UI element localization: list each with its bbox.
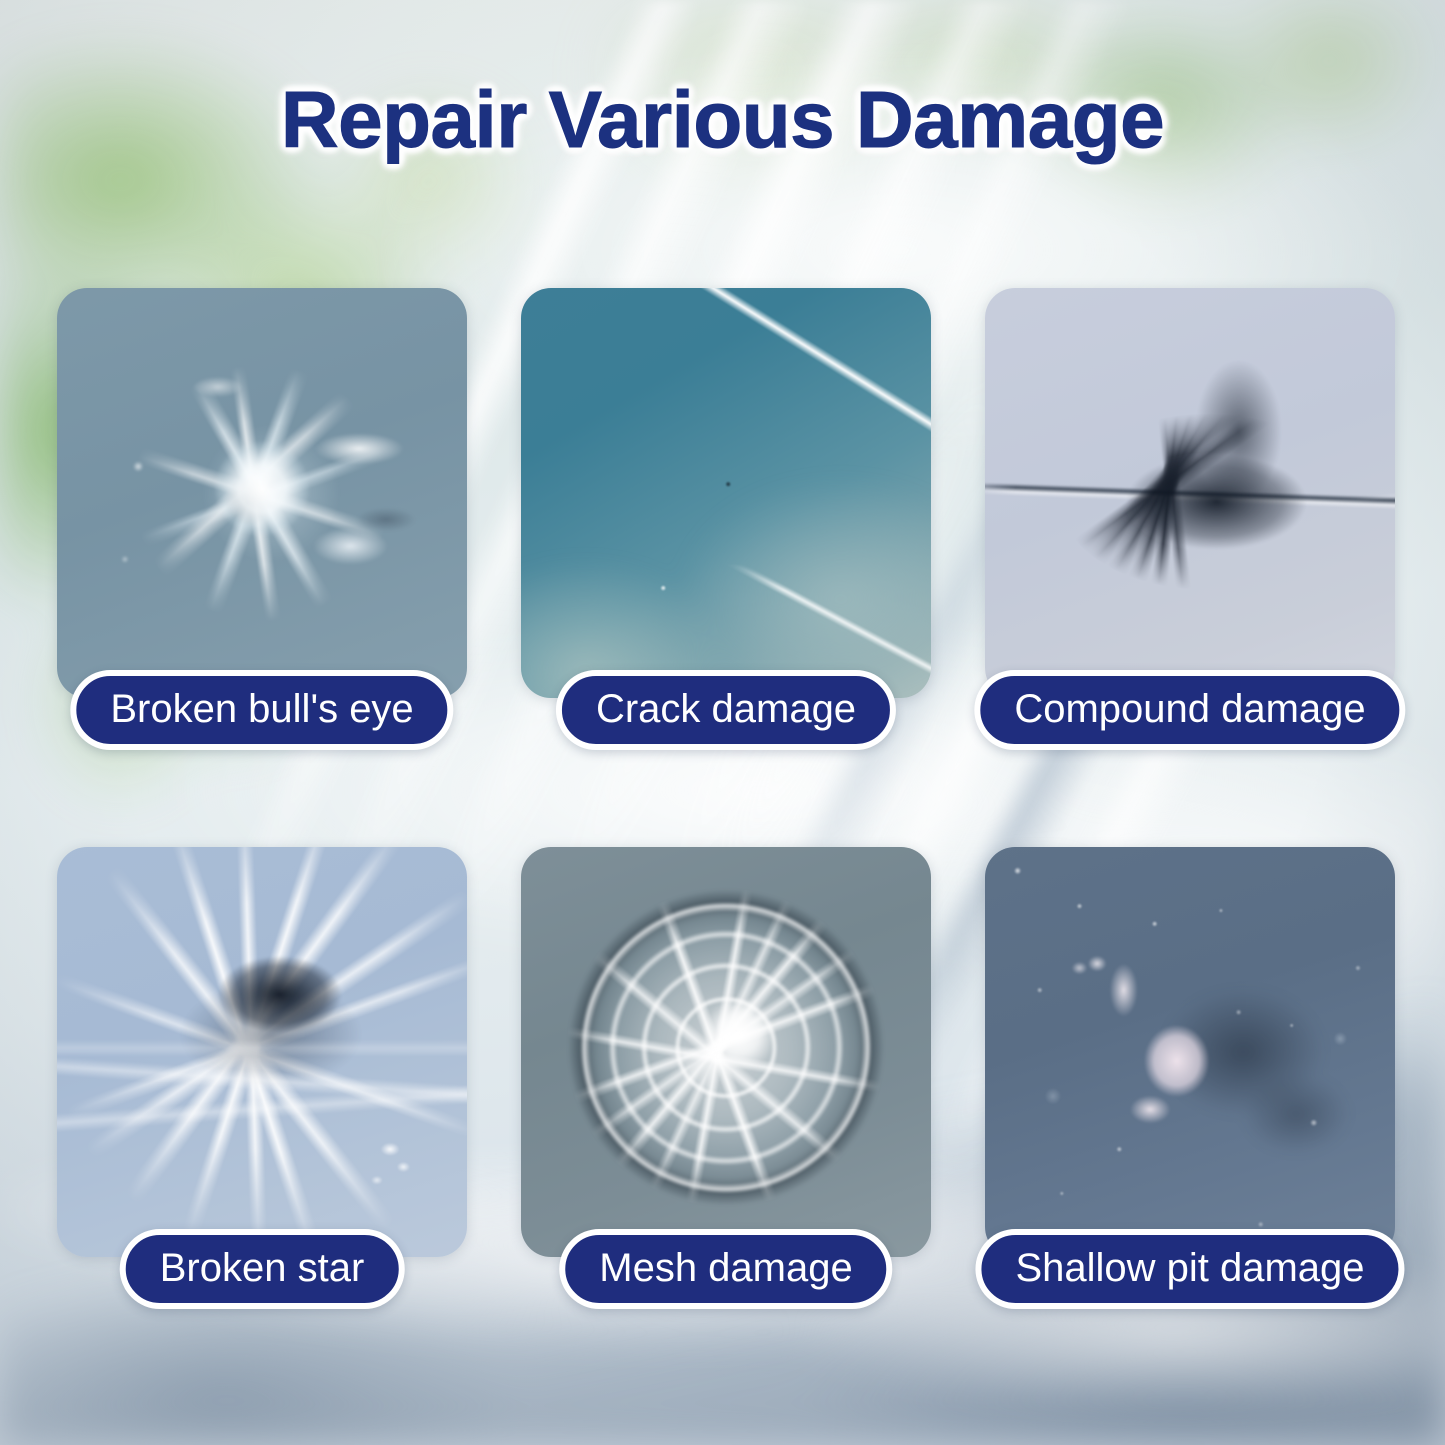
damage-card-shallow-pit-damage[interactable]: Shallow pit damage — [985, 847, 1395, 1257]
pit-chip-spot — [985, 847, 1395, 1257]
compound-vertical-spike — [985, 288, 1395, 698]
bullseye-glass-flakes — [57, 288, 467, 698]
crack-impact-points — [521, 288, 931, 698]
damage-card-broken-star[interactable]: Broken star — [57, 847, 467, 1257]
damage-photo-crack-damage — [521, 288, 931, 698]
damage-card-broken-bulls-eye[interactable]: Broken bull's eye — [57, 288, 467, 698]
damage-label-broken-star[interactable]: Broken star — [120, 1229, 405, 1309]
damage-photo-compound-damage — [985, 288, 1395, 698]
star-glass-sparkles — [57, 847, 467, 1257]
damage-label-broken-bulls-eye[interactable]: Broken bull's eye — [70, 670, 453, 750]
damage-photo-mesh-damage — [521, 847, 931, 1257]
damage-label-mesh-damage[interactable]: Mesh damage — [559, 1229, 892, 1309]
damage-photo-shallow-pit-damage — [985, 847, 1395, 1257]
poster-title: Repair Various Damage — [0, 74, 1445, 166]
damage-type-grid: Broken bull's eye Crack damage Compoun — [57, 288, 1395, 1318]
damage-types-poster: Repair Various Damage Broken bull's eye … — [0, 0, 1445, 1445]
damage-label-compound-damage[interactable]: Compound damage — [974, 670, 1405, 750]
damage-card-compound-damage[interactable]: Compound damage — [985, 288, 1395, 698]
damage-card-crack-damage[interactable]: Crack damage — [521, 288, 931, 698]
damage-photo-broken-star — [57, 847, 467, 1257]
damage-label-shallow-pit-damage[interactable]: Shallow pit damage — [975, 1229, 1404, 1309]
damage-photo-broken-bulls-eye — [57, 288, 467, 698]
damage-card-mesh-damage[interactable]: Mesh damage — [521, 847, 931, 1257]
mesh-impact-center — [521, 847, 931, 1257]
damage-label-crack-damage[interactable]: Crack damage — [556, 670, 896, 750]
